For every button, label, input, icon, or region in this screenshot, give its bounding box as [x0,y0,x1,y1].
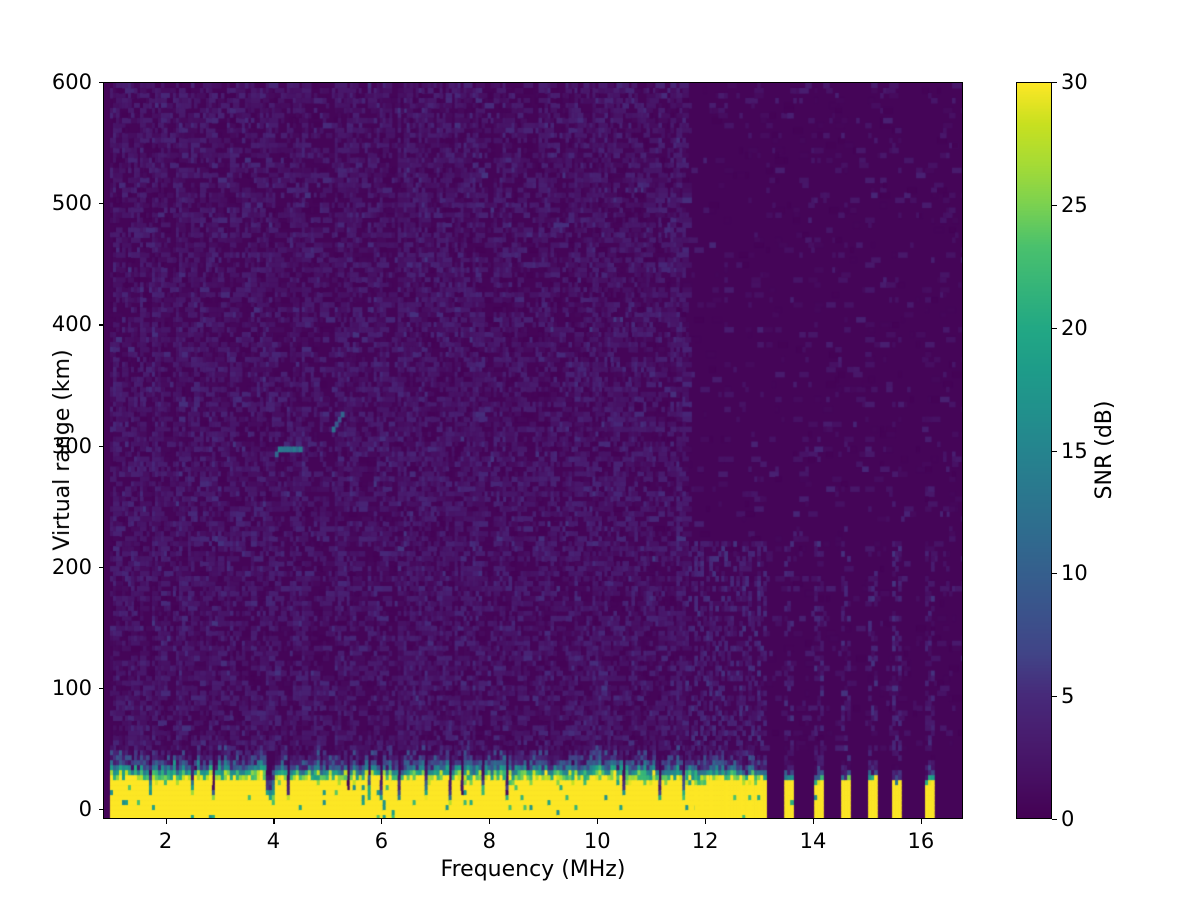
ionogram-heatmap [104,83,963,819]
y-tick-label: 400 [3,312,92,336]
x-tick-mark [273,819,274,824]
colorbar-tick-label: 10 [1061,561,1088,585]
x-tick-mark [489,819,490,824]
colorbar-tick-label: 0 [1061,807,1074,831]
colorbar-tick-mark [1052,205,1057,206]
x-tick-label: 14 [800,829,827,853]
colorbar-tick-label: 15 [1061,439,1088,463]
colorbar-tick-label: 30 [1061,70,1088,94]
colorbar-gradient [1017,83,1051,818]
colorbar-tick-label: 25 [1061,193,1088,217]
x-tick-label: 2 [159,829,172,853]
x-tick-label: 6 [375,829,388,853]
x-tick-mark [597,819,598,824]
y-tick-mark [99,567,104,568]
y-axis-label: Virtual range (km) [0,349,125,550]
y-tick-mark [99,82,104,83]
x-tick-label: 12 [692,829,719,853]
x-axis-label: Frequency (MHz) [103,857,963,882]
colorbar-tick-label: 5 [1061,684,1074,708]
colorbar-tick-mark [1052,819,1057,820]
x-tick-label: 10 [584,829,611,853]
y-tick-label: 500 [3,191,92,215]
x-tick-mark [166,819,167,824]
x-tick-mark [705,819,706,824]
ionogram-plot-area[interactable] [103,82,963,819]
y-tick-mark [99,324,104,325]
colorbar-tick-mark [1052,696,1057,697]
x-tick-label: 16 [908,829,935,853]
ionogram-figure: IRF Kiruna Ionosonde KI167 2026-03-16 12… [0,0,1200,900]
y-tick-label: 100 [3,676,92,700]
colorbar-tick-mark [1052,328,1057,329]
y-tick-mark [99,809,104,810]
colorbar-tick-mark [1052,573,1057,574]
x-tick-mark [381,819,382,824]
x-tick-label: 4 [267,829,280,853]
x-tick-mark [813,819,814,824]
colorbar-label: SNR (dB) [1092,401,1117,500]
y-tick-mark [99,688,104,689]
y-tick-label: 200 [3,555,92,579]
y-tick-label: 0 [3,797,92,821]
x-tick-mark [921,819,922,824]
y-tick-mark [99,203,104,204]
colorbar-tick-mark [1052,451,1057,452]
snr-colorbar[interactable] [1016,82,1052,819]
colorbar-tick-mark [1052,82,1057,83]
colorbar-tick-label: 20 [1061,316,1088,340]
y-tick-label: 600 [3,70,92,94]
x-tick-label: 8 [483,829,496,853]
